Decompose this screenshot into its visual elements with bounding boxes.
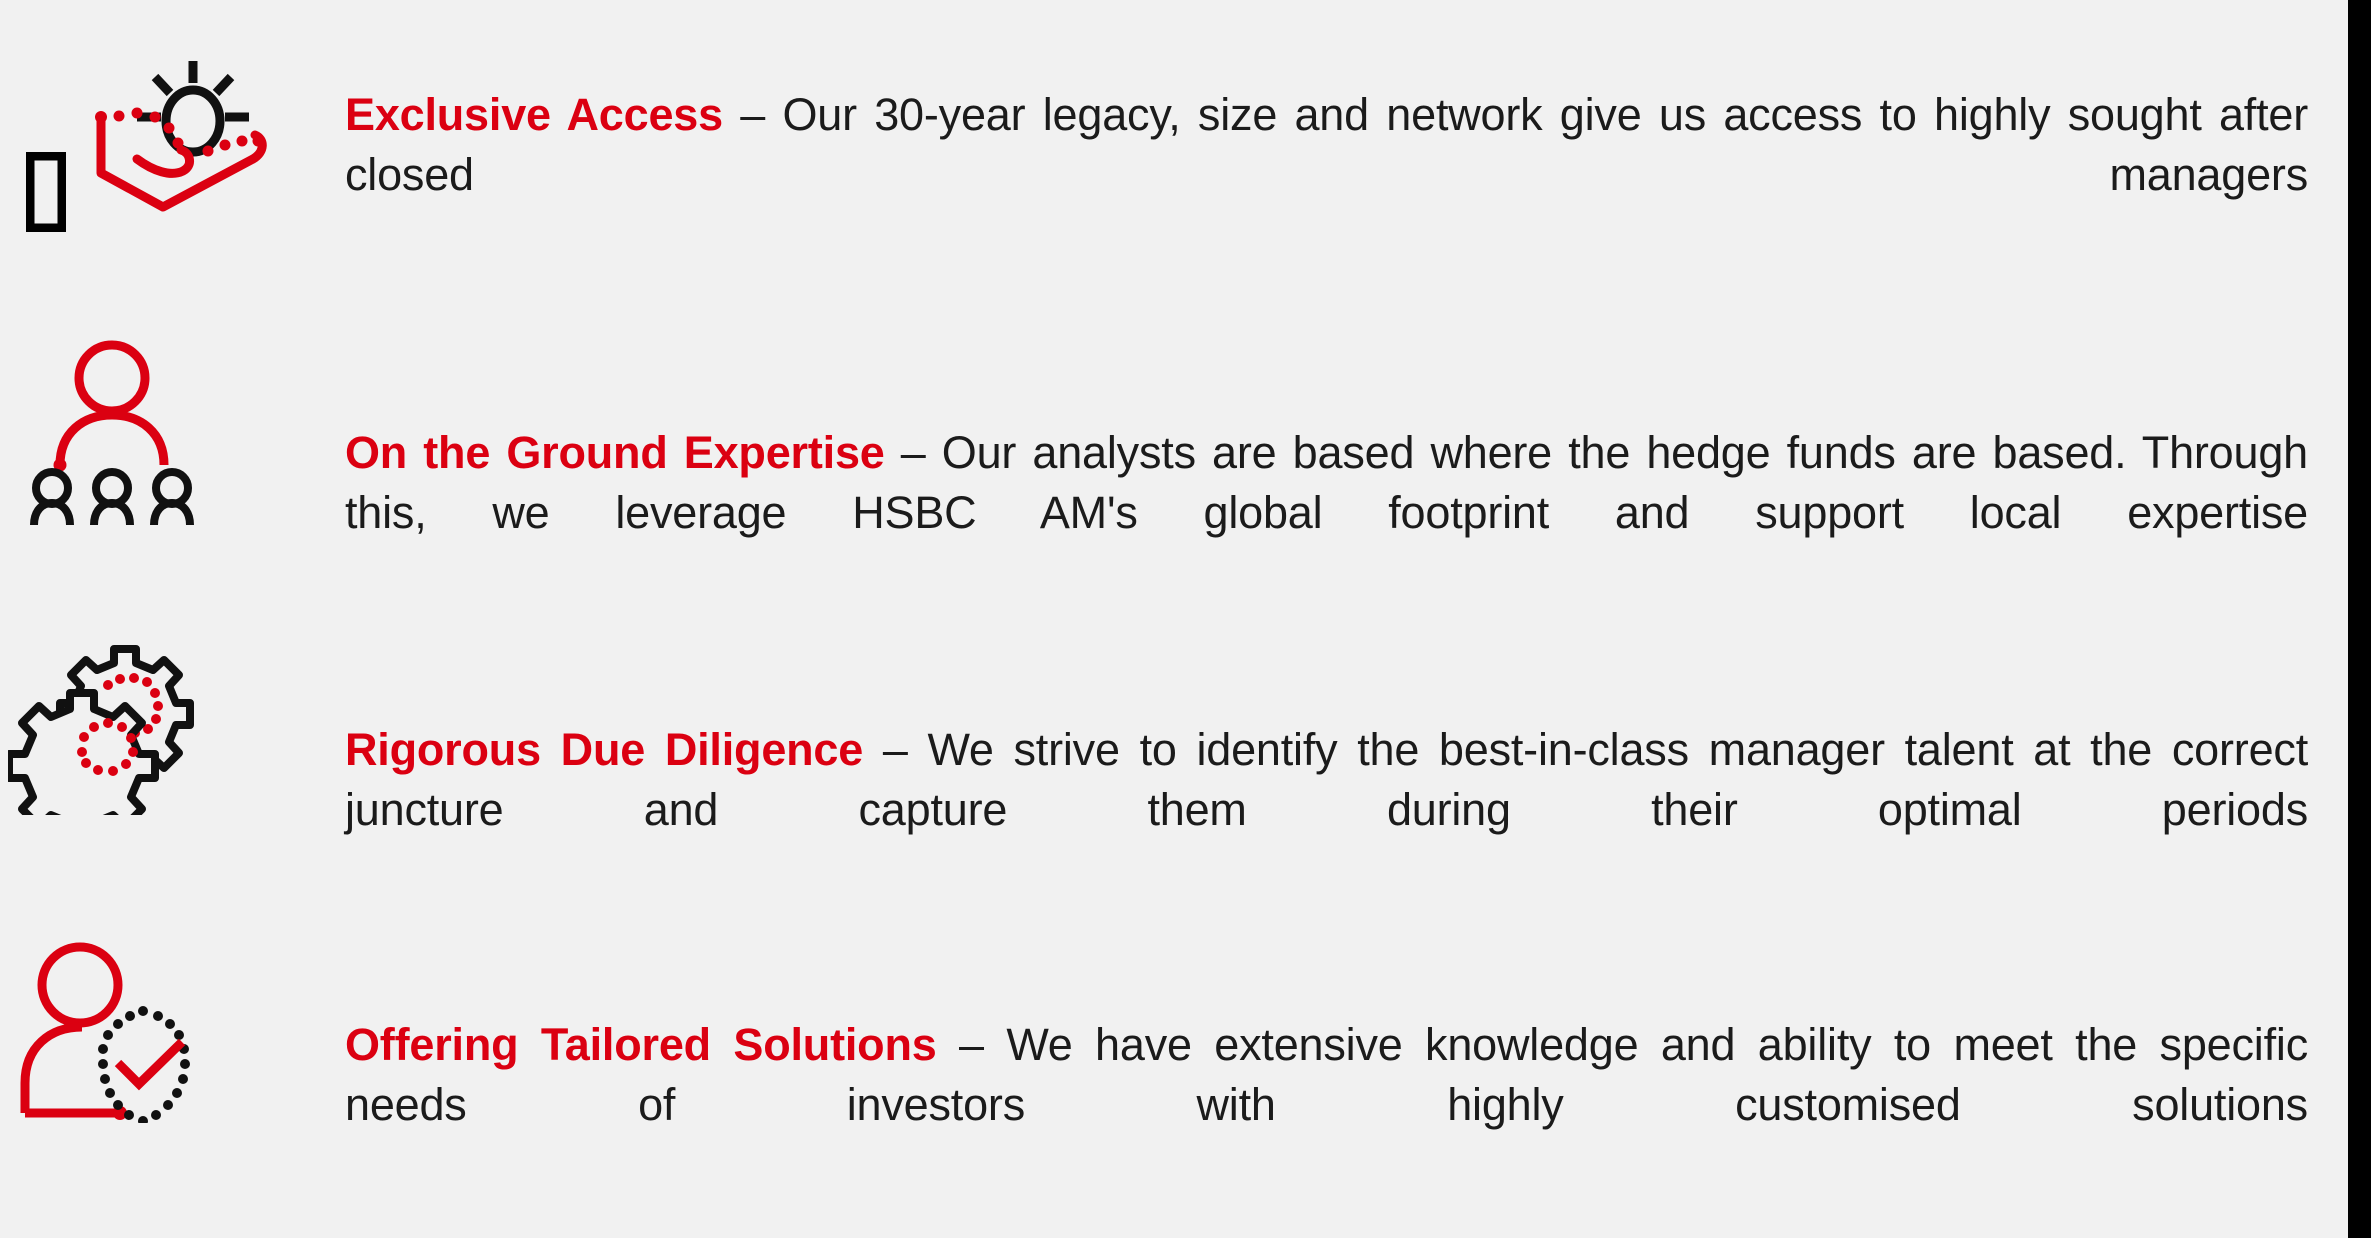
- icon-cell: [0, 625, 345, 925]
- bullet-text-cell: Rigorous Due Diligence – We strive to id…: [345, 625, 2348, 900]
- bullet-dash: –: [885, 427, 942, 478]
- icon-cell: [0, 915, 345, 1225]
- bullet-lead-text: Rigorous Due Diligence: [345, 724, 863, 775]
- bullet-dash: –: [863, 724, 927, 775]
- icon-cell: [0, 40, 345, 300]
- two-gears-icon: [8, 630, 208, 815]
- person-with-check-shield-icon: [8, 923, 208, 1123]
- bullet-dash: –: [723, 89, 783, 140]
- bullet-row: On the Ground Expertise – Our analysts a…: [0, 330, 2348, 630]
- bullet-text-cell: Offering Tailored Solutions – We have ex…: [345, 915, 2348, 1195]
- icon-cell: [0, 330, 345, 630]
- bullet-row: Exclusive Access – Our 30-year legacy, s…: [0, 40, 2348, 300]
- bullet-paragraph: On the Ground Expertise – Our analysts a…: [345, 423, 2308, 603]
- bullet-lead-text: On the Ground Expertise: [345, 427, 885, 478]
- bullet-lead-text: Exclusive Access: [345, 89, 723, 140]
- bullet-row: Offering Tailored Solutions – We have ex…: [0, 915, 2348, 1225]
- bullet-text-cell: On the Ground Expertise – Our analysts a…: [345, 330, 2348, 603]
- right-edge-bar: [2348, 0, 2371, 1238]
- bullet-text-cell: Exclusive Access – Our 30-year legacy, s…: [345, 40, 2348, 265]
- person-above-team-icon: [10, 335, 225, 525]
- bullet-row: Rigorous Due Diligence – We strive to id…: [0, 625, 2348, 925]
- slide-canvas: Exclusive Access – Our 30-year legacy, s…: [0, 0, 2371, 1238]
- bullet-paragraph: Offering Tailored Solutions – We have ex…: [345, 1015, 2308, 1195]
- bullet-dash: –: [937, 1019, 1007, 1070]
- bullet-paragraph: Exclusive Access – Our 30-year legacy, s…: [345, 85, 2308, 265]
- bullet-lead-text: Offering Tailored Solutions: [345, 1019, 937, 1070]
- bullet-paragraph: Rigorous Due Diligence – We strive to id…: [345, 720, 2308, 900]
- missing-glyph-box-icon: [26, 152, 66, 232]
- hand-holding-idea-icon: [75, 55, 275, 215]
